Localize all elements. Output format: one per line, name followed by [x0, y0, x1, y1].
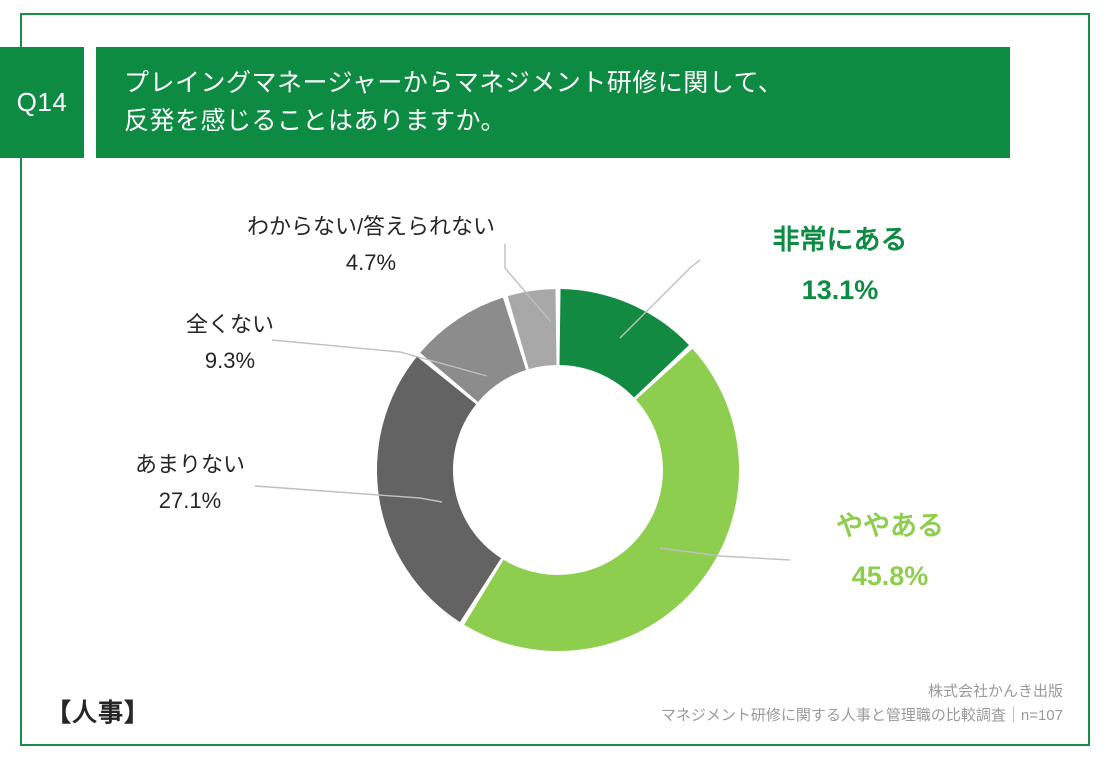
donut-chart — [0, 0, 1109, 767]
slice-label-value: 13.1% — [700, 272, 980, 308]
slice-label-text: 全くない — [150, 310, 310, 340]
slice-label-text: 非常にある — [700, 222, 980, 258]
slice-label-value: 27.1% — [110, 486, 270, 516]
footer-survey: マネジメント研修に関する人事と管理職の比較調査｜n=107 — [661, 704, 1063, 728]
slice-label-value: 4.7% — [236, 248, 506, 278]
slice-label-mattaku: 全くない 9.3% — [150, 310, 310, 375]
slice-label-text: わからない/答えられない — [236, 212, 506, 242]
donut-slice-group — [377, 289, 739, 651]
slice-label-amari: あまりない 27.1% — [110, 450, 270, 515]
donut-slice — [464, 349, 739, 651]
slice-label-value: 9.3% — [150, 346, 310, 376]
slice-label-wakaranai: わからない/答えられない 4.7% — [236, 212, 506, 277]
footer-credit: 株式会社かんき出版 マネジメント研修に関する人事と管理職の比較調査｜n=107 — [661, 680, 1063, 728]
slice-label-yaya-aru: ややある 45.8% — [750, 508, 1030, 595]
category-tag: 【人事】 — [46, 693, 150, 729]
donut-chart-svg — [0, 0, 1109, 767]
footer-company: 株式会社かんき出版 — [661, 680, 1063, 704]
slice-label-hijyo-ni-aru: 非常にある 13.1% — [700, 222, 980, 309]
slice-label-value: 45.8% — [750, 558, 1030, 594]
slice-label-text: あまりない — [110, 450, 270, 480]
slice-label-text: ややある — [750, 508, 1030, 544]
